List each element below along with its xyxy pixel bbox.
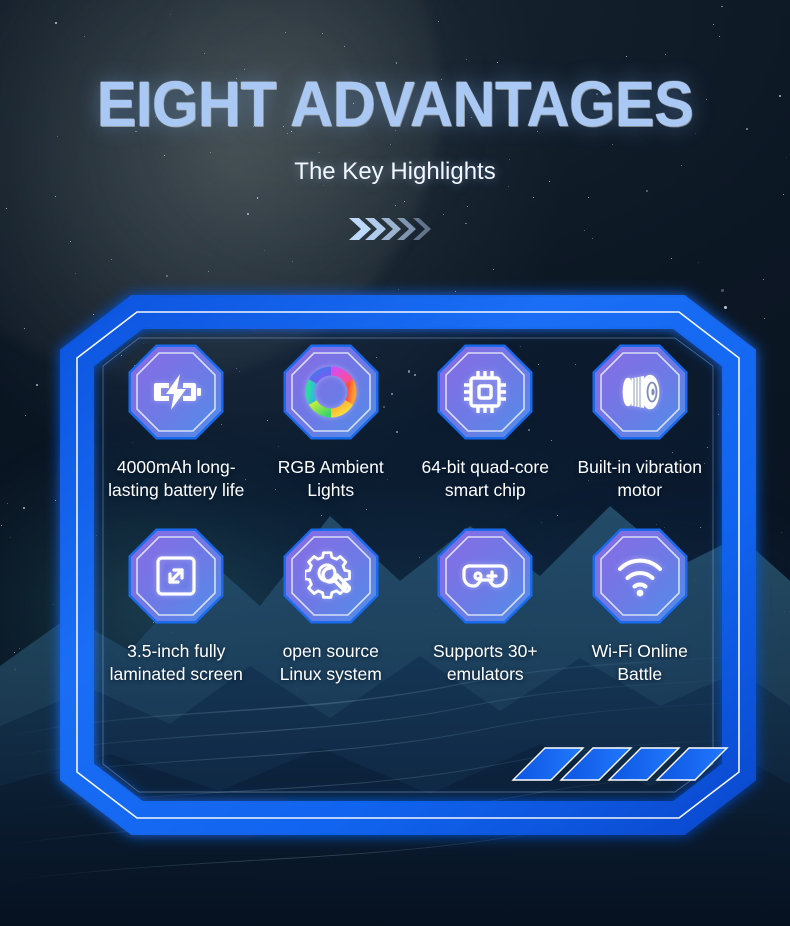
caption-line-2: laminated screen [110, 664, 243, 684]
gear-wrench-icon [305, 550, 357, 602]
feature-item-emulators[interactable]: Supports 30+ emulators [408, 528, 563, 686]
badge-vibration [592, 344, 688, 440]
badge-screen [128, 528, 224, 624]
caption-line-2: Lights [307, 480, 354, 500]
feature-item-open-source[interactable]: open source Linux system [254, 528, 409, 686]
page-title: EIGHT ADVANTAGES [28, 72, 763, 136]
wifi-icon [614, 550, 666, 602]
expand-screen-icon [150, 550, 202, 602]
feature-caption: open source Linux system [280, 640, 382, 686]
feature-caption: RGB Ambient Lights [278, 456, 384, 502]
caption-line-1: Wi-Fi Online [592, 641, 688, 661]
feature-item-wifi[interactable]: Wi-Fi Online Battle [563, 528, 718, 686]
badge-cpu [437, 344, 533, 440]
badge-emulators [437, 528, 533, 624]
feature-caption: 3.5-inch fully laminated screen [110, 640, 243, 686]
feature-item-cpu[interactable]: 64-bit quad-core smart chip [408, 344, 563, 502]
caption-line-2: lasting battery life [108, 480, 244, 500]
feature-item-screen[interactable]: 3.5-inch fully laminated screen [99, 528, 254, 686]
caption-line-1: open source [283, 641, 379, 661]
features-panel: 4000mAh long- lasting battery life [75, 310, 741, 820]
feature-caption: 64-bit quad-core smart chip [422, 456, 549, 502]
caption-line-2: Battle [617, 664, 662, 684]
feature-caption: Supports 30+ emulators [433, 640, 538, 686]
features-grid: 4000mAh long- lasting battery life [99, 332, 717, 796]
caption-line-1: 4000mAh long- [117, 457, 236, 477]
caption-line-1: 3.5-inch fully [127, 641, 225, 661]
chevron-divider [0, 212, 790, 246]
page-subtitle: The Key Highlights [0, 158, 790, 186]
rgb-color-wheel-icon [305, 366, 357, 418]
caption-line-1: 64-bit quad-core [422, 457, 549, 477]
battery-charging-icon [150, 366, 202, 418]
caption-line-2: emulators [447, 664, 524, 684]
feature-row-1: 4000mAh long- lasting battery life [99, 344, 717, 502]
badge-open-source [283, 528, 379, 624]
cpu-chip-icon [459, 366, 511, 418]
feature-caption: Wi-Fi Online Battle [592, 640, 688, 686]
caption-line-1: RGB Ambient [278, 457, 384, 477]
feature-item-vibration[interactable]: Built-in vibration motor [563, 344, 718, 502]
feature-item-battery[interactable]: 4000mAh long- lasting battery life [99, 344, 254, 502]
caption-line-2: Linux system [280, 664, 382, 684]
caption-line-1: Built-in vibration [578, 457, 703, 477]
feature-caption: 4000mAh long- lasting battery life [108, 456, 244, 502]
header: EIGHT ADVANTAGES The Key Highlights [0, 0, 790, 246]
badge-battery [128, 344, 224, 440]
chevrons-right-icon [349, 216, 441, 242]
caption-line-2: motor [617, 480, 662, 500]
badge-wifi [592, 528, 688, 624]
feature-item-rgb-lights[interactable]: RGB Ambient Lights [254, 344, 409, 502]
caption-line-1: Supports 30+ [433, 641, 538, 661]
vibration-motor-icon [614, 366, 666, 418]
badge-rgb [283, 344, 379, 440]
feature-row-2: 3.5-inch fully laminated screen [99, 528, 717, 686]
gamepad-icon [459, 550, 511, 602]
caption-line-2: smart chip [445, 480, 526, 500]
promo-banner: EIGHT ADVANTAGES The Key Highlights [0, 0, 790, 926]
feature-caption: Built-in vibration motor [578, 456, 703, 502]
